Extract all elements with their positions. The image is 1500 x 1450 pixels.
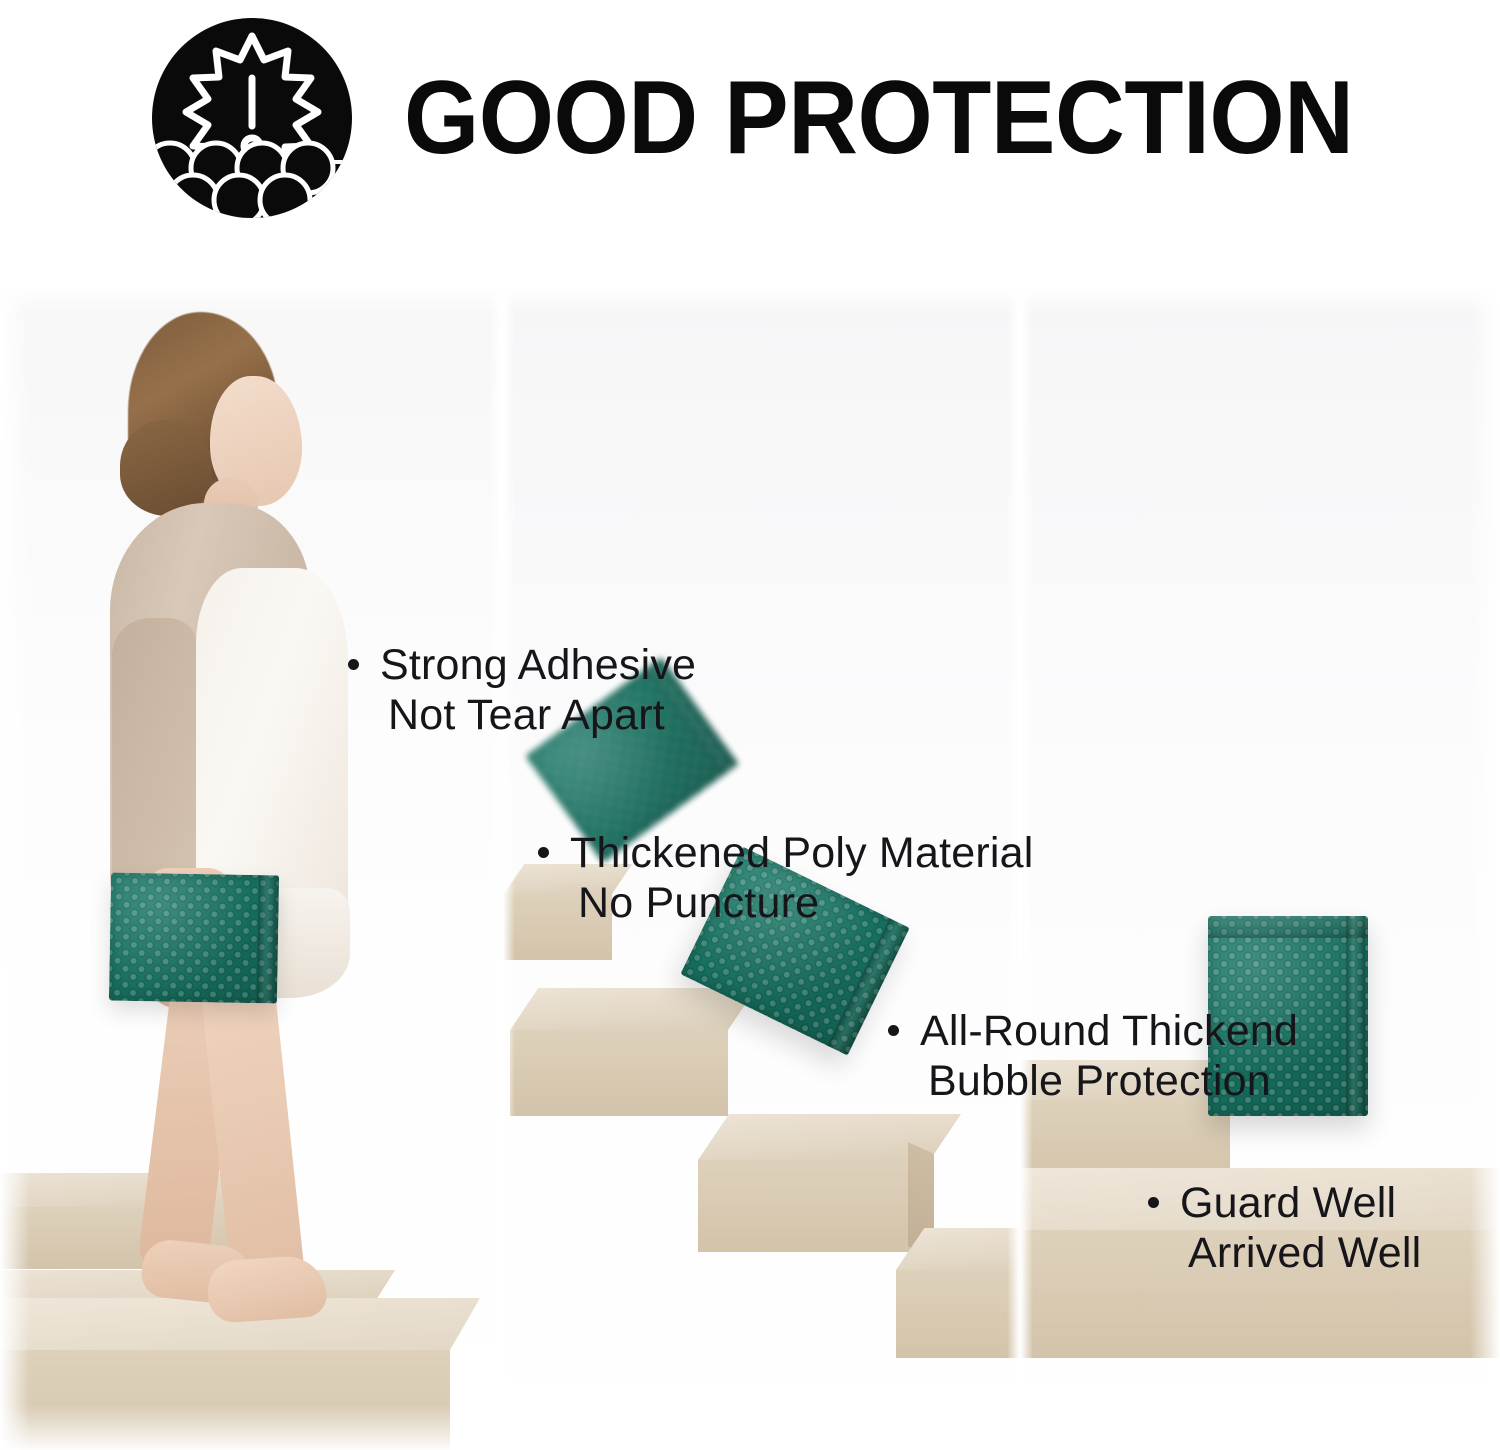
bubble-mailer-held xyxy=(109,873,279,1004)
hair-bun xyxy=(120,420,212,516)
product-photo-strip: Strong Adhesive Not Tear Apart Thickened… xyxy=(0,288,1500,1450)
wood-step xyxy=(896,1228,1020,1358)
callout-line: Bubble Protection xyxy=(888,1056,1298,1106)
bullet-dot xyxy=(1148,1197,1159,1208)
bullet-dot xyxy=(538,847,549,858)
callout-line: No Puncture xyxy=(538,878,1033,928)
callout-line: Strong Adhesive xyxy=(348,640,696,690)
bullet-dot xyxy=(888,1025,899,1036)
callout-guard-well-arrived-well: Guard Well Arrived Well xyxy=(1148,1178,1421,1279)
panel-woman-carrying-mailer xyxy=(0,288,502,1450)
callout-thickened-poly-material: Thickened Poly Material No Puncture xyxy=(538,828,1033,929)
callout-line: Guard Well xyxy=(1148,1178,1421,1228)
header: GOOD PROTECTION xyxy=(0,0,1500,288)
callout-line: All-Round Thickend xyxy=(888,1006,1298,1056)
wood-step xyxy=(510,988,728,1116)
callout-strong-adhesive: Strong Adhesive Not Tear Apart xyxy=(348,640,696,741)
callout-line: Thickened Poly Material xyxy=(538,828,1033,878)
bullet-dot xyxy=(348,659,359,670)
callout-all-round-bubble-protection: All-Round Thickend Bubble Protection xyxy=(888,1006,1298,1107)
callout-line: Not Tear Apart xyxy=(348,690,696,740)
callout-line: Arrived Well xyxy=(1148,1228,1421,1278)
burst-exclamation-bubblewrap-icon xyxy=(152,18,352,218)
foot-front xyxy=(206,1254,328,1324)
page-title: GOOD PROTECTION xyxy=(404,58,1334,178)
